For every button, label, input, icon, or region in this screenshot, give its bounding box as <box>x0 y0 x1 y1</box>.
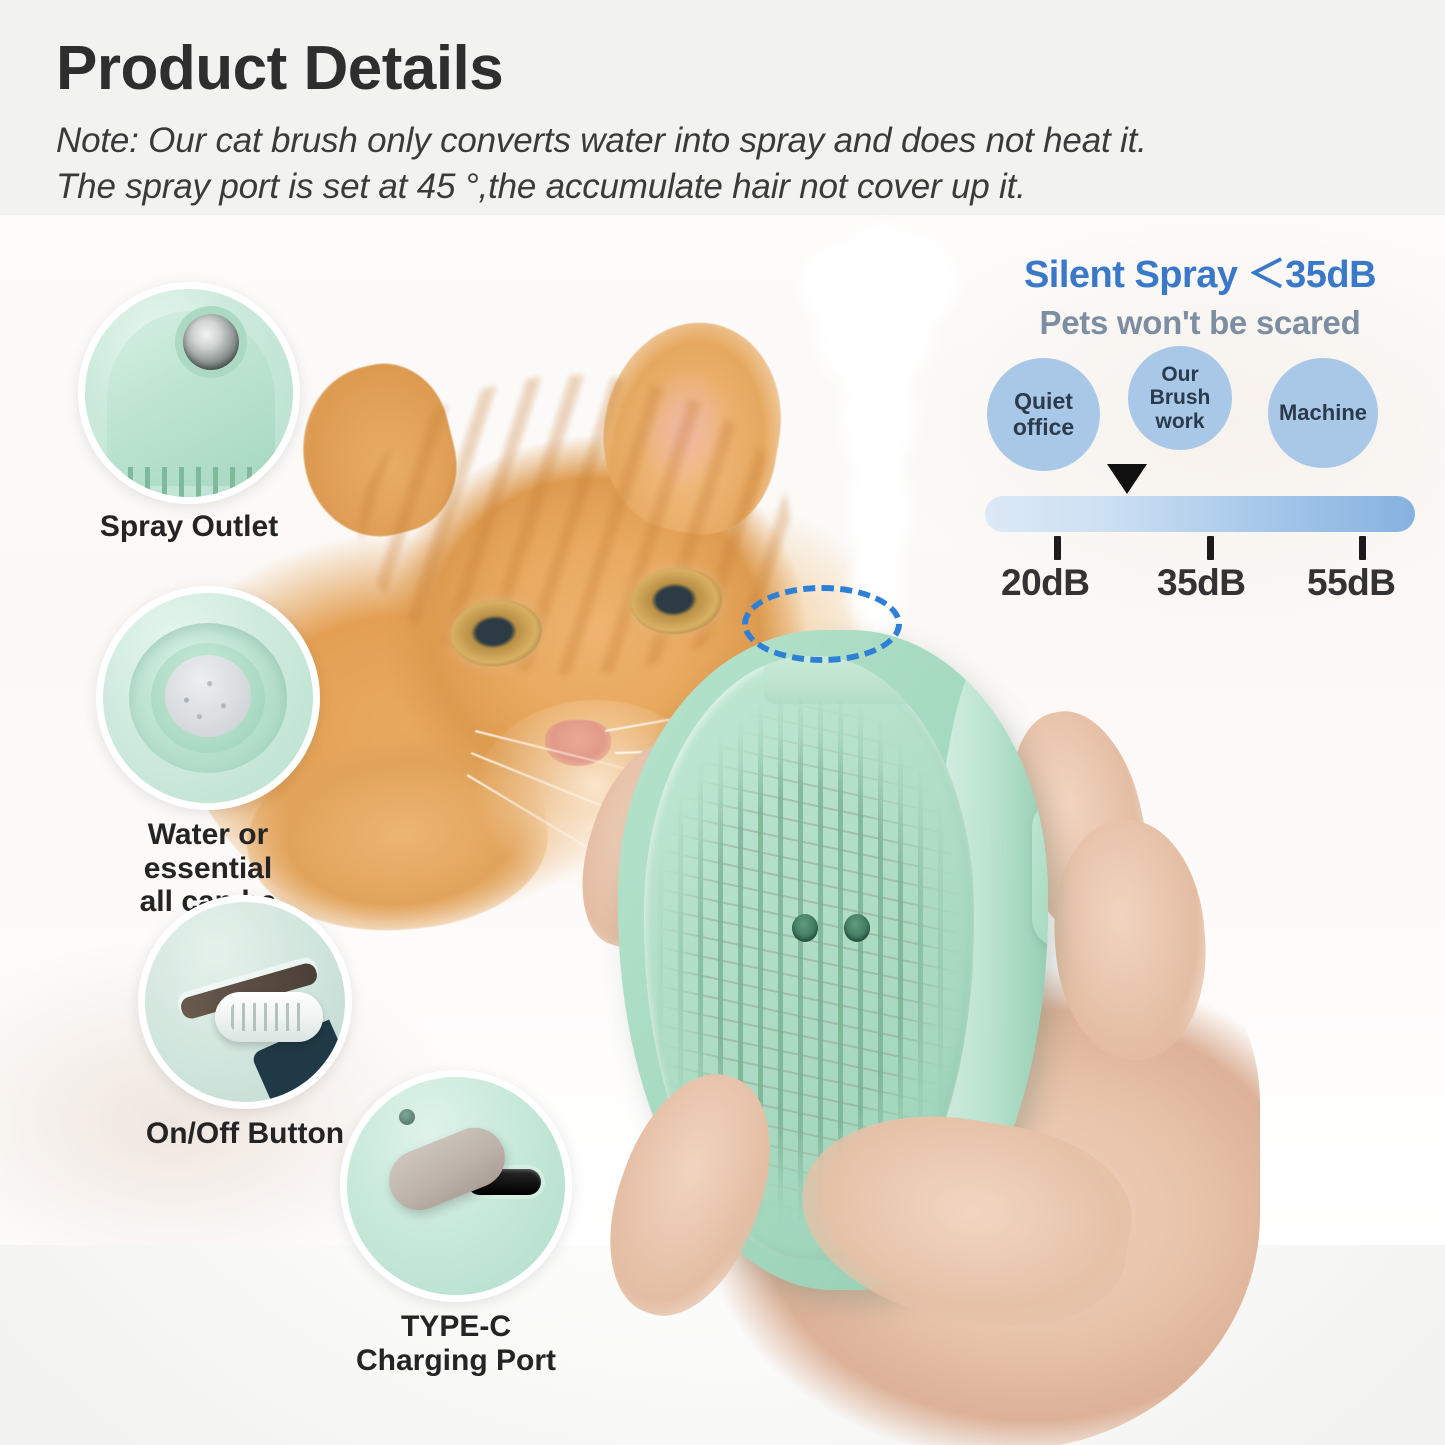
callout-water-tank: Water or essential all can be added <box>96 586 320 810</box>
scale-label-20db: 20dB <box>1001 562 1089 604</box>
tank-sponge <box>165 655 251 737</box>
brush-nozzle-top <box>764 656 914 704</box>
spray-port-highlight-ellipse <box>742 585 902 663</box>
callout-type-c-port: TYPE-C Charging Port <box>340 1070 572 1302</box>
noise-marker-arrow-icon <box>1107 464 1147 494</box>
header-note: Note: Our cat brush only converts water … <box>56 118 1416 209</box>
spray-plume <box>788 218 973 638</box>
tick-20db <box>1054 536 1061 560</box>
on-off-button-photo <box>138 895 352 1109</box>
noise-scale-bar <box>985 496 1415 532</box>
bubble-quiet-office: Quiet office <box>987 358 1100 471</box>
page-title: Product Details <box>56 38 1416 100</box>
noise-subhead: Pets won't be scared <box>985 304 1415 342</box>
noise-scale-ticks <box>985 532 1415 562</box>
callout-label: TYPE-C Charging Port <box>340 1310 572 1377</box>
spray-outlet-photo <box>78 282 300 504</box>
tick-35db <box>1207 536 1214 560</box>
noise-level-chart: Silent Spray ＜35dB Pets won't be scared … <box>985 243 1415 614</box>
type-c-port-photo <box>340 1070 572 1302</box>
header: Product Details Note: Our cat brush only… <box>56 38 1416 209</box>
bubble-machine: Machine <box>1268 358 1378 468</box>
metal-nozzle-icon <box>183 314 239 370</box>
noise-headline: Silent Spray ＜35dB <box>985 243 1415 298</box>
hand-holding-brush <box>600 590 1320 1445</box>
noise-scale-labels: 20dB 35dB 55dB <box>985 562 1415 614</box>
noise-bubbles: Quiet office Our Brush work Machine <box>985 358 1415 482</box>
scale-label-35db: 35dB <box>1157 562 1245 604</box>
reset-pinhole-icon <box>399 1109 415 1125</box>
callout-spray-outlet: Spray Outlet <box>78 282 300 504</box>
callout-label: On/Off Button <box>138 1117 352 1151</box>
tick-55db <box>1359 536 1366 560</box>
bubble-our-brush-work: Our Brush work <box>1128 346 1232 450</box>
steam-vent-holes <box>792 914 882 944</box>
power-switch-icon <box>215 992 323 1042</box>
water-tank-photo <box>96 586 320 810</box>
port-rubber-flap <box>380 1119 514 1220</box>
bristle-row <box>111 467 261 501</box>
product-detail-image: Product Details Note: Our cat brush only… <box>0 0 1445 1445</box>
callout-label: Spray Outlet <box>78 510 300 544</box>
scale-label-55db: 55dB <box>1307 562 1395 604</box>
brush-side-clip <box>1032 798 1048 948</box>
callout-on-off-button: On/Off Button <box>138 895 352 1109</box>
